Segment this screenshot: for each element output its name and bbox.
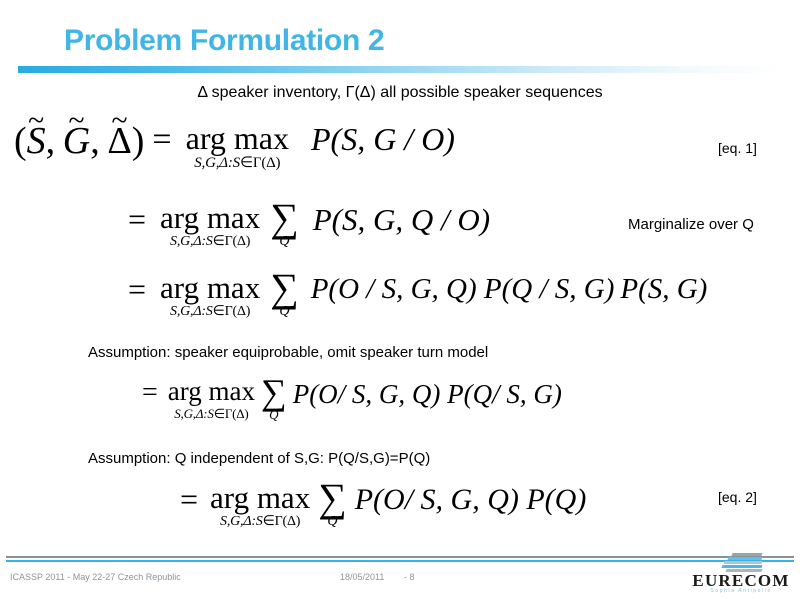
argmax-subscript-3: S,G,Δ:S∈Γ(Δ) [170,305,250,319]
equals-sign-5: = [180,482,198,517]
equation-4-expression: P(O/ S, G, Q) P(Q/ S, G) [293,378,562,410]
title-underline-rule [18,66,782,73]
tilde-accent-g: ~ [68,107,84,137]
equation-line-2: = arg max S,G,Δ:S∈Γ(Δ) ∑ Q P(S, G, Q / O… [128,202,490,249]
argmax-label-4: arg max [168,378,255,405]
summation-symbol-4: ∑ [261,378,287,408]
summation-index-5: Q [327,515,337,529]
footer-divider-cyan [6,560,794,562]
eurecom-logo-wordmark: EURECOM [690,572,792,589]
eurecom-logo-tagline: Sophia Antipolis [690,589,792,594]
tilde-accent-delta: ~ [112,107,128,137]
equation-line-3: = arg max S,G,Δ:S∈Γ(Δ) ∑ Q P(O / S, G, Q… [128,272,707,319]
equation-1-expression: P(S, G / O) [311,122,455,158]
assumption-text-1: Assumption: speaker equiprobable, omit s… [88,344,488,361]
summation-index-2: Q [279,235,289,249]
equation-5-expression: P(O/ S, G, Q) P(Q) [355,482,587,517]
argmax-subscript-2: S,G,Δ:S∈Γ(Δ) [170,235,250,249]
eurecom-logo-mark-icon [722,553,766,572]
argmax-subscript-5: S,G,Δ:S∈Γ(Δ) [220,515,300,529]
footer-page-number: - 8 [404,572,415,582]
summation-symbol-2: ∑ [270,202,299,235]
annotation-marginalize: Marginalize over Q [628,216,754,233]
equation-line-5: = arg max S,G,Δ:S∈Γ(Δ) ∑ Q P(O/ S, G, Q)… [180,482,586,529]
equation-1-lhs: (~S, ~G, ~Δ) [14,122,144,160]
argmax-subscript-4: S,G,Δ:S∈Γ(Δ) [174,407,248,420]
equals-sign-4: = [142,378,158,409]
summation-index-4: Q [269,408,278,421]
footer-divider-dark [6,556,794,558]
slide-subtitle: Δ speaker inventory, Γ(Δ) all possible s… [0,84,800,102]
summation-index-3: Q [279,305,289,319]
equals-sign-1: = [152,122,171,159]
equation-line-1: (~S, ~G, ~Δ) = arg max S,G,Δ:S∈Γ(Δ) P(S,… [14,122,455,171]
summation-symbol-5: ∑ [318,482,347,515]
tilde-accent-s: ~ [28,107,44,137]
equals-sign-2: = [128,202,146,237]
equation-3-expression-tail: P(S, G) [620,272,707,307]
equation-line-4: = arg max S,G,Δ:S∈Γ(Δ) ∑ Q P(O/ S, G, Q)… [142,378,562,421]
argmax-label-2: arg max [160,202,260,233]
summation-symbol-3: ∑ [270,272,299,305]
page-title: Problem Formulation 2 [64,24,384,58]
footer-date-text: 18/05/2011 [340,572,384,582]
equation-2-tag: [eq. 2] [718,489,757,505]
equation-1-tag: [eq. 1] [718,140,757,156]
eurecom-logo: EURECOM Sophia Antipolis [690,553,792,595]
footer-conference-text: ICASSP 2011 - May 22-27 Czech Republic [10,572,181,582]
argmax-subscript-1: S,G,Δ:S∈Γ(Δ) [194,156,280,171]
argmax-label-1: arg max [186,122,289,154]
argmax-label-5: arg max [210,482,310,513]
argmax-label-3: arg max [160,272,260,303]
equation-2-expression: P(S, G, Q / O) [313,202,490,238]
equation-3-expression: P(O / S, G, Q) P(Q / S, G) [311,272,615,307]
assumption-text-2: Assumption: Q independent of S,G: P(Q/S,… [88,450,430,467]
equals-sign-3: = [128,272,146,307]
